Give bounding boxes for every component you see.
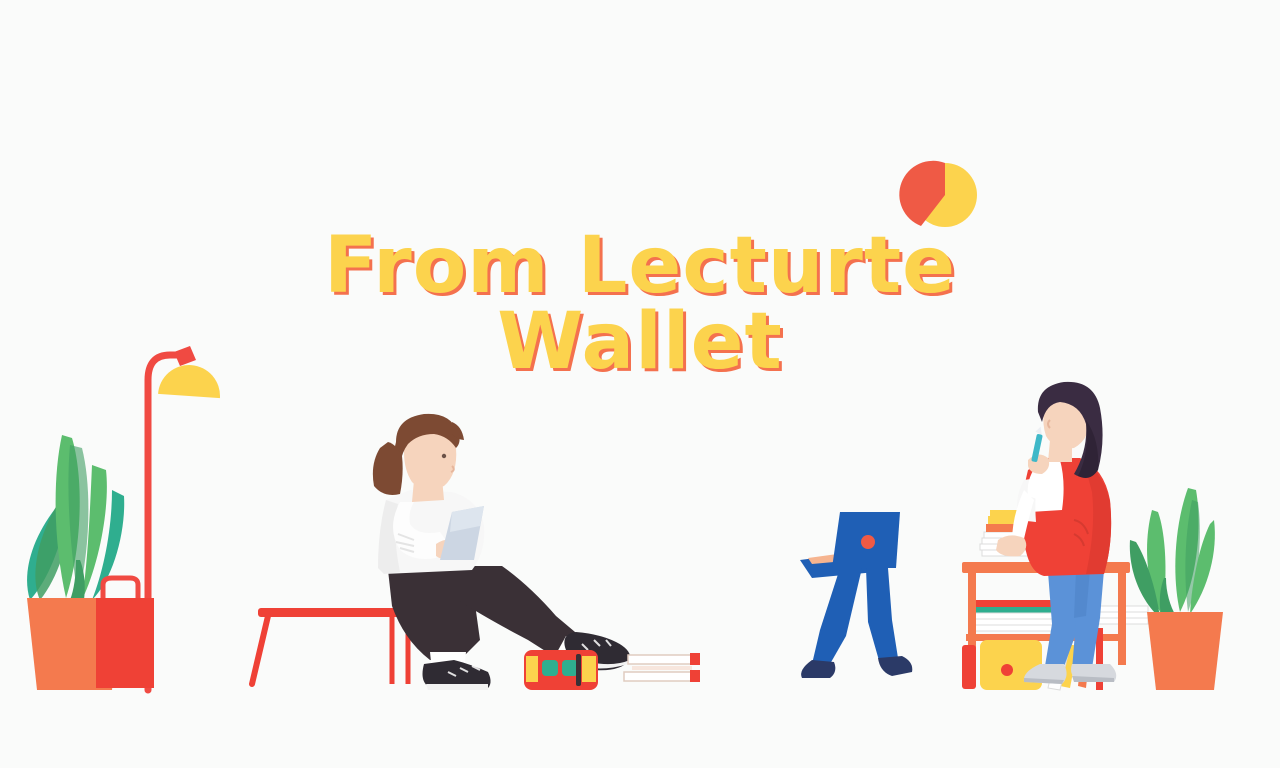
red-pencil-case [524, 650, 598, 690]
pie-chart-icon [899, 161, 977, 227]
stacked-books-floor [624, 653, 700, 682]
scene-illustration [0, 0, 1280, 768]
illustration-canvas: From LecturteWallet [0, 0, 1280, 768]
